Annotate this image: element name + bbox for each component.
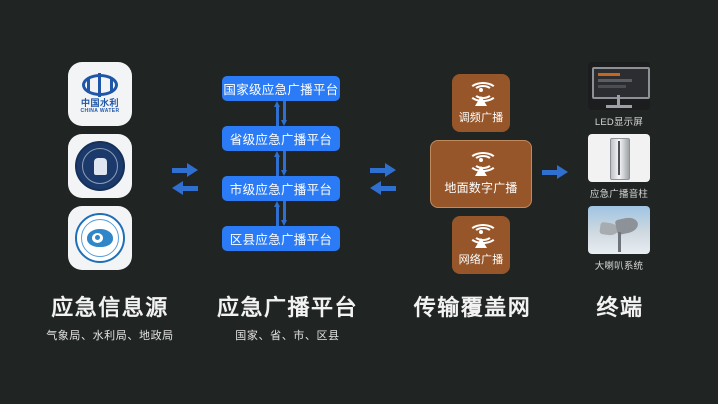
platform-box-national[interactable]: 国家级应急广播平台 bbox=[222, 76, 340, 101]
caption-subtitle: 国家、省、市、区县 bbox=[205, 327, 370, 343]
source-logo-column: 中国水利 CHINA WATER bbox=[68, 62, 132, 270]
transmission-label-fm: 调频广播 bbox=[459, 109, 504, 125]
terminal-column: LED显示屏 应急广播音柱 大喇叭系统 bbox=[588, 62, 650, 272]
loudspeaker-icon bbox=[588, 206, 650, 254]
arrow-right-icon bbox=[542, 165, 568, 180]
caption-information-sources: 应急信息源 气象局、水利局、地政局 bbox=[30, 295, 190, 343]
arrow-right-icon bbox=[370, 163, 396, 178]
platform-link-bidirectional-icon bbox=[274, 201, 288, 226]
terminal-item-speaker-column[interactable]: 应急广播音柱 bbox=[588, 134, 650, 200]
platform-link-bidirectional-icon bbox=[274, 101, 288, 126]
terminal-label-loudspeaker: 大喇叭系统 bbox=[595, 258, 644, 272]
caption-title: 传输覆盖网 bbox=[400, 295, 545, 321]
transmission-label-internet: 网络广播 bbox=[459, 251, 504, 267]
china-water-emblem-icon bbox=[82, 74, 118, 96]
platform-column: 国家级应急广播平台 省级应急广播平台 市级应急广播平台 区县应急广播平台 bbox=[222, 76, 340, 251]
source-logo-meteorological-administration bbox=[68, 206, 132, 270]
led-screen-icon bbox=[588, 62, 650, 110]
china-water-cn-text: 中国水利 bbox=[81, 98, 119, 108]
caption-title: 应急广播平台 bbox=[205, 295, 370, 321]
caption-title: 终端 bbox=[575, 295, 665, 321]
arrow-left-icon bbox=[370, 181, 396, 196]
broadcast-tower-icon bbox=[466, 152, 496, 176]
platform-box-district[interactable]: 区县应急广播平台 bbox=[222, 226, 340, 251]
terminal-label-speaker-column: 应急广播音柱 bbox=[590, 186, 648, 200]
transmission-label-terrestrial-digital: 地面数字广播 bbox=[444, 179, 517, 196]
speaker-column-icon bbox=[588, 134, 650, 182]
arrow-left-icon bbox=[172, 181, 198, 196]
earthquake-administration-seal-icon bbox=[75, 141, 125, 191]
arrow-right-icon bbox=[172, 163, 198, 178]
caption-terminals: 终端 bbox=[575, 295, 665, 327]
platform-box-provincial[interactable]: 省级应急广播平台 bbox=[222, 126, 340, 151]
platform-box-municipal[interactable]: 市级应急广播平台 bbox=[222, 176, 340, 201]
arrow-transmission-terminals bbox=[542, 165, 568, 180]
caption-subtitle: 气象局、水利局、地政局 bbox=[30, 327, 190, 343]
transmission-box-fm[interactable]: 调频广播 bbox=[452, 74, 510, 132]
source-logo-earthquake-administration bbox=[68, 134, 132, 198]
platform-link-bidirectional-icon bbox=[274, 151, 288, 176]
terminal-label-led-screen: LED显示屏 bbox=[595, 114, 643, 128]
terminal-item-loudspeaker[interactable]: 大喇叭系统 bbox=[588, 206, 650, 272]
caption-broadcast-platform: 应急广播平台 国家、省、市、区县 bbox=[205, 295, 370, 343]
source-logo-china-water: 中国水利 CHINA WATER bbox=[68, 62, 132, 126]
broadcast-tower-icon bbox=[466, 82, 496, 106]
terminal-item-led-screen[interactable]: LED显示屏 bbox=[588, 62, 650, 128]
arrow-pair-sources-platforms bbox=[172, 163, 198, 196]
arrow-pair-platforms-transmission bbox=[370, 163, 396, 196]
meteorological-administration-seal-icon bbox=[75, 213, 125, 263]
caption-title: 应急信息源 bbox=[30, 295, 190, 321]
transmission-box-terrestrial-digital[interactable]: 地面数字广播 bbox=[430, 140, 532, 208]
diagram-canvas: 中国水利 CHINA WATER 国家级应急广播平台 省级应急广播平台 bbox=[0, 0, 718, 404]
transmission-box-internet[interactable]: 网络广播 bbox=[452, 216, 510, 274]
broadcast-tower-icon bbox=[466, 224, 496, 248]
caption-transmission-network: 传输覆盖网 bbox=[400, 295, 545, 327]
transmission-column: 调频广播 地面数字广播 网络广播 bbox=[430, 74, 532, 274]
china-water-en-text: CHINA WATER bbox=[80, 108, 119, 114]
